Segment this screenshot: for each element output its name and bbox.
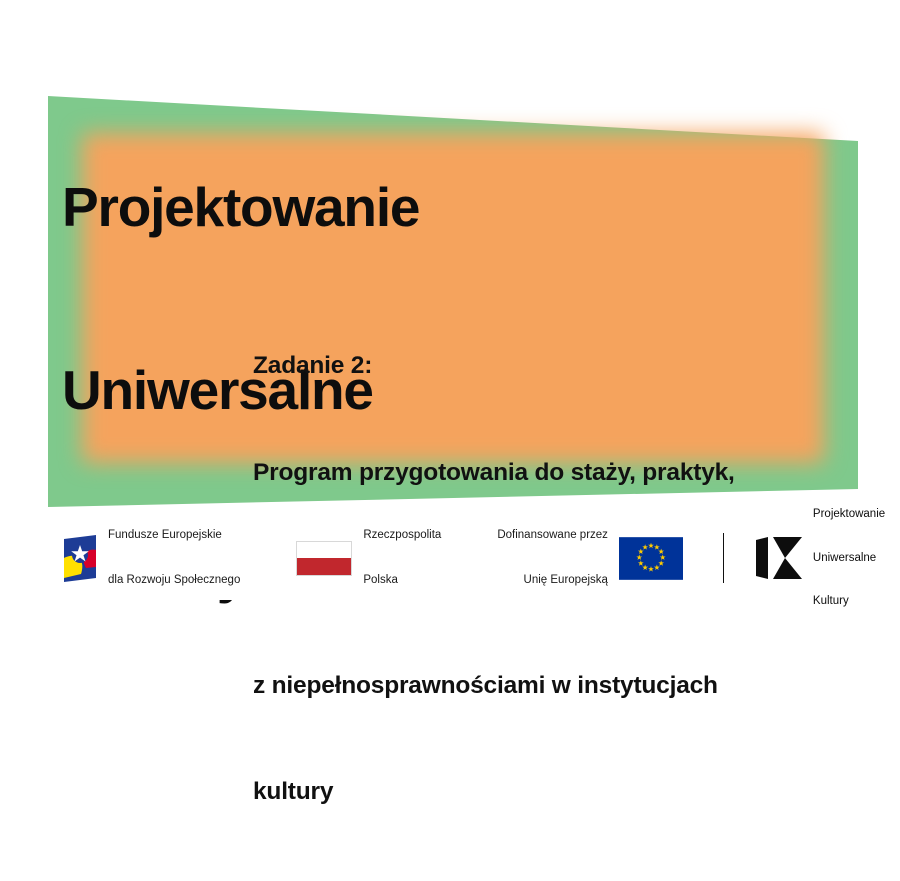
poster-canvas: Projektowanie Uniwersalne Kultury Zadani… (0, 0, 900, 600)
task-label: Zadanie 2: (253, 348, 735, 384)
fe-caption-line-2: dla Rozwoju Społecznego (108, 573, 240, 588)
rzeczpospolita-polska-caption: Rzeczpospolita Polska (363, 498, 441, 618)
puk-caption-line-1: Projektowanie (813, 507, 885, 522)
task-text-line-4: kultury (253, 774, 735, 810)
unia-europejska-caption: Dofinansowane przez Unię Europejską (497, 498, 608, 618)
rp-caption-line-1: Rzeczpospolita (363, 528, 441, 543)
eu-caption-line-2: Unię Europejską (497, 573, 608, 588)
fundusze-europejskie-caption: Fundusze Europejskie dla Rozwoju Społecz… (108, 498, 240, 618)
rp-caption-line-2: Polska (363, 573, 441, 588)
logo-rzeczpospolita-polska: Rzeczpospolita Polska (296, 532, 441, 584)
poland-flag-white-band (297, 542, 351, 559)
footer-logo-row: Fundusze Europejskie dla Rozwoju Społecz… (62, 528, 852, 588)
poland-flag-icon (296, 541, 352, 576)
puk-caption-line-3: Kultury (813, 594, 885, 609)
page-title-line-1: Projektowanie (62, 177, 419, 238)
fundusze-europejskie-icon (62, 535, 98, 582)
eu-caption-line-1: Dofinansowane przez (497, 528, 608, 543)
puk-caption-line-2: Uniwersalne (813, 551, 885, 566)
puk-caption: Projektowanie Uniwersalne Kultury (813, 478, 885, 638)
task-text-line-3: z niepełnosprawnościami w instytucjach (253, 668, 735, 704)
fe-caption-line-1: Fundusze Europejskie (108, 528, 240, 543)
footer-logo-bar: Fundusze Europejskie dla Rozwoju Społecz… (0, 514, 900, 600)
task-text-line-1: Program przygotowania do staży, praktyk, (253, 455, 735, 491)
logo-fundusze-europejskie: Fundusze Europejskie dla Rozwoju Społecz… (62, 532, 240, 584)
logo-unia-europejska: Dofinansowane przez Unię Europejską (497, 532, 683, 584)
european-union-flag-icon (619, 537, 683, 580)
logo-projektowanie-uniwersalne-kultury: Projektowanie Uniwersalne Kultury (756, 532, 885, 584)
poland-flag-red-band (297, 558, 351, 575)
footer-divider (723, 533, 724, 583)
puk-k-mark-icon (756, 537, 802, 579)
